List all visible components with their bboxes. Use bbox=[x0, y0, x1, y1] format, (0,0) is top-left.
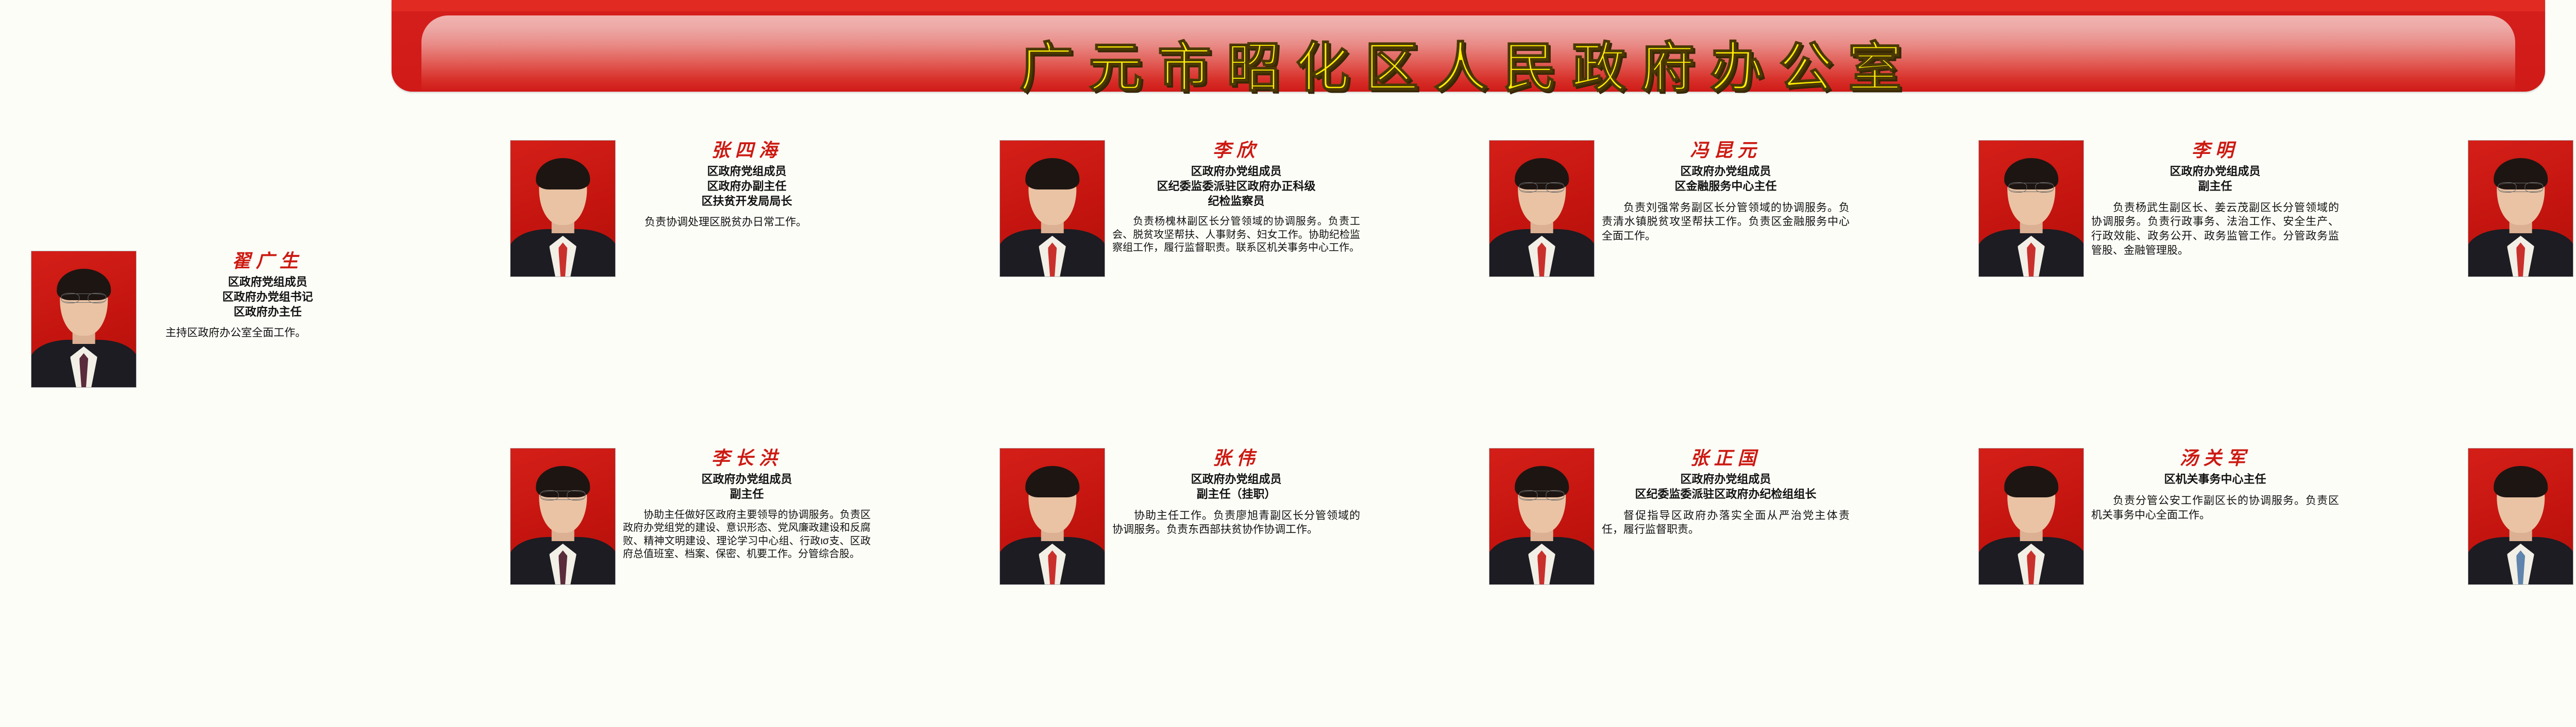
person-title-line: 区政府办党组成员 bbox=[2170, 164, 2260, 179]
portrait-photo bbox=[999, 140, 1105, 277]
person-card-feng-kunyuan: 冯昆元 区政府办党组成员 区金融服务中心主任 负责刘强常务副区长分管领域的协调服… bbox=[1489, 140, 1850, 277]
person-info: 翟广生 区政府党组成员 区政府办党组书记 区政府办主任 主持区政府办公室全面工作… bbox=[137, 251, 392, 388]
person-card-xu-hongsen: 徐洪森 区金融服务中心副主任 负责付健副区长分管领域的协调服务。 bbox=[2468, 448, 2576, 585]
person-title-line: 区政府办党组成员 bbox=[1157, 164, 1315, 179]
person-title-line: 区机关事务中心主任 bbox=[2164, 472, 2266, 487]
person-name: 李长洪 bbox=[711, 448, 782, 469]
person-duty: 协助主任工作。负责廖旭青副区长分管领域的协调服务。负责东西部扶贫协作协调工作。 bbox=[1112, 509, 1360, 537]
person-titles: 区政府办党组成员 副主任 bbox=[701, 472, 792, 501]
person-duty: 负责杨武生副区长、姜云茂副区长分管领域的协调服务。负责行政事务、法治工作、安全生… bbox=[2091, 201, 2339, 258]
person-title-line: 区政府办党组成员 bbox=[1635, 472, 1816, 487]
person-title-line: 副主任 bbox=[701, 487, 792, 502]
person-info: 张四海 区政府党组成员 区政府办副主任 区扶贫开发局局长 负责协调处理区脱贫办日… bbox=[616, 140, 871, 277]
person-duty: 负责刘强常务副区长分管领域的协调服务。负责清水镇脱贫攻坚帮扶工作。负责区金融服务… bbox=[1602, 201, 1850, 244]
person-titles: 区政府办党组成员 副主任（挂职） bbox=[1191, 472, 1281, 501]
portrait-photo bbox=[510, 448, 616, 585]
person-duty: 主持区政府办公室全面工作。 bbox=[144, 326, 392, 340]
person-duty: 负责杨槐林副区长分管领域的协调服务。负责工会、脱贫攻坚帮扶、人事财务、妇女工作。… bbox=[1112, 215, 1360, 255]
person-card-li-changhong: 李长洪 区政府办党组成员 副主任 协助主任做好区政府主要领导的协调服务。负责区政… bbox=[510, 448, 871, 585]
person-title-line: 区政府党组成员 bbox=[701, 164, 792, 179]
portrait-photo bbox=[1489, 448, 1595, 585]
person-title-line: 副主任（挂职） bbox=[1191, 487, 1281, 502]
person-title-line: 区纪委监委派驻区政府办纪检组组长 bbox=[1635, 487, 1816, 502]
person-title-line: 区扶贫开发局局长 bbox=[701, 194, 792, 209]
person-info: 李欣 区政府办党组成员 区纪委监委派驻区政府办正科级 纪检监察员 负责杨槐林副区… bbox=[1105, 140, 1360, 277]
person-card-tang-guanjun: 汤关军 区机关事务中心主任 负责分管公安工作副区长的协调服务。负责区机关事务中心… bbox=[1978, 448, 2339, 585]
title-banner: 广元市昭化区人民政府办公室 bbox=[392, 0, 2545, 92]
person-card-zhang-wei: 张伟 区政府办党组成员 副主任（挂职） 协助主任工作。负责廖旭青副区长分管领域的… bbox=[999, 448, 1360, 585]
person-info: 李长洪 区政府办党组成员 副主任 协助主任做好区政府主要领导的协调服务。负责区政… bbox=[616, 448, 871, 585]
person-info: 张正国 区政府办党组成员 区纪委监委派驻区政府办纪检组组长 督促指导区政府办落实… bbox=[1595, 448, 1850, 585]
person-name: 冯昆元 bbox=[1690, 140, 1761, 161]
portrait-photo bbox=[999, 448, 1105, 585]
portrait-photo bbox=[1978, 448, 2084, 585]
person-duty: 督促指导区政府办落实全面从严治党主体责任，履行监督职责。 bbox=[1602, 509, 1850, 537]
person-card-zhang-sihai: 张四海 区政府党组成员 区政府办副主任 区扶贫开发局局长 负责协调处理区脱贫办日… bbox=[510, 140, 871, 277]
portrait-photo bbox=[1978, 140, 2084, 277]
person-name: 张正国 bbox=[1690, 448, 1761, 469]
person-card-li-ming: 李明 区政府办党组成员 副主任 负责杨武生副区长、姜云茂副区长分管领域的协调服务… bbox=[1978, 140, 2339, 277]
portrait-photo bbox=[2468, 448, 2573, 585]
person-title-line: 区政府办党组书记 bbox=[222, 290, 313, 305]
person-card-zhang-guiqiao: 张桂桥 区政府办党组成员 副主任 协助主任工作。负责马逸风副区长分管领域的协调服… bbox=[2468, 140, 2576, 277]
person-info: 徐洪森 区金融服务中心副主任 负责付健副区长分管领域的协调服务。 bbox=[2573, 448, 2576, 585]
person-title-line: 区政府党组成员 bbox=[222, 275, 313, 290]
person-duty: 协助主任做好区政府主要领导的协调服务。负责区政府办党组党的建设、意识形态、党风廉… bbox=[623, 509, 871, 561]
person-title-line: 区政府办党组成员 bbox=[1191, 472, 1281, 487]
person-card-zhai-guangsheng: 翟广生 区政府党组成员 区政府办党组书记 区政府办主任 主持区政府办公室全面工作… bbox=[31, 251, 392, 388]
portrait-photo bbox=[31, 251, 137, 388]
person-titles: 区政府党组成员 区政府办党组书记 区政府办主任 bbox=[222, 275, 313, 319]
portrait-photo bbox=[2468, 140, 2573, 277]
person-titles: 区机关事务中心主任 bbox=[2164, 472, 2266, 487]
person-title-line: 区政府办主任 bbox=[222, 305, 313, 320]
person-card-zhang-zhengguo: 张正国 区政府办党组成员 区纪委监委派驻区政府办纪检组组长 督促指导区政府办落实… bbox=[1489, 448, 1850, 585]
person-card-li-xin: 李欣 区政府办党组成员 区纪委监委派驻区政府办正科级 纪检监察员 负责杨槐林副区… bbox=[999, 140, 1360, 277]
person-name: 李明 bbox=[2191, 140, 2239, 161]
person-name: 李欣 bbox=[1212, 140, 1260, 161]
person-title-line: 纪检监察员 bbox=[1157, 194, 1315, 209]
person-titles: 区政府党组成员 区政府办副主任 区扶贫开发局局长 bbox=[701, 164, 792, 209]
person-titles: 区政府办党组成员 副主任 bbox=[2170, 164, 2260, 194]
person-info: 张桂桥 区政府办党组成员 副主任 协助主任工作。负责马逸风副区长分管领域的协调服… bbox=[2573, 140, 2576, 277]
portrait-photo bbox=[510, 140, 616, 277]
person-info: 汤关军 区机关事务中心主任 负责分管公安工作副区长的协调服务。负责区机关事务中心… bbox=[2084, 448, 2339, 585]
person-name: 汤关军 bbox=[2179, 448, 2250, 469]
person-title-line: 区政府办党组成员 bbox=[1674, 164, 1776, 179]
person-info: 冯昆元 区政府办党组成员 区金融服务中心主任 负责刘强常务副区长分管领域的协调服… bbox=[1595, 140, 1850, 277]
person-title-line: 区金融服务中心主任 bbox=[1674, 179, 1776, 194]
person-name: 张伟 bbox=[1212, 448, 1260, 469]
portrait-photo bbox=[1489, 140, 1595, 277]
person-titles: 区政府办党组成员 区纪委监委派驻区政府办纪检组组长 bbox=[1635, 472, 1816, 501]
person-info: 张伟 区政府办党组成员 副主任（挂职） 协助主任工作。负责廖旭青副区长分管领域的… bbox=[1105, 448, 1360, 585]
person-titles: 区政府办党组成员 区金融服务中心主任 bbox=[1674, 164, 1776, 194]
person-title-line: 区政府办副主任 bbox=[701, 179, 792, 194]
person-duty: 负责分管公安工作副区长的协调服务。负责区机关事务中心全面工作。 bbox=[2091, 494, 2339, 522]
page-title: 广元市昭化区人民政府办公室 bbox=[392, 24, 2545, 101]
person-name: 张四海 bbox=[711, 140, 782, 161]
person-title-line: 区政府办党组成员 bbox=[701, 472, 792, 487]
person-name: 翟广生 bbox=[232, 251, 303, 272]
person-title-line: 副主任 bbox=[2170, 179, 2260, 194]
person-title-line: 区纪委监委派驻区政府办正科级 bbox=[1157, 179, 1315, 194]
person-info: 李明 区政府办党组成员 副主任 负责杨武生副区长、姜云茂副区长分管领域的协调服务… bbox=[2084, 140, 2339, 277]
person-titles: 区政府办党组成员 区纪委监委派驻区政府办正科级 纪检监察员 bbox=[1157, 164, 1315, 209]
person-duty: 负责协调处理区脱贫办日常工作。 bbox=[623, 215, 871, 230]
